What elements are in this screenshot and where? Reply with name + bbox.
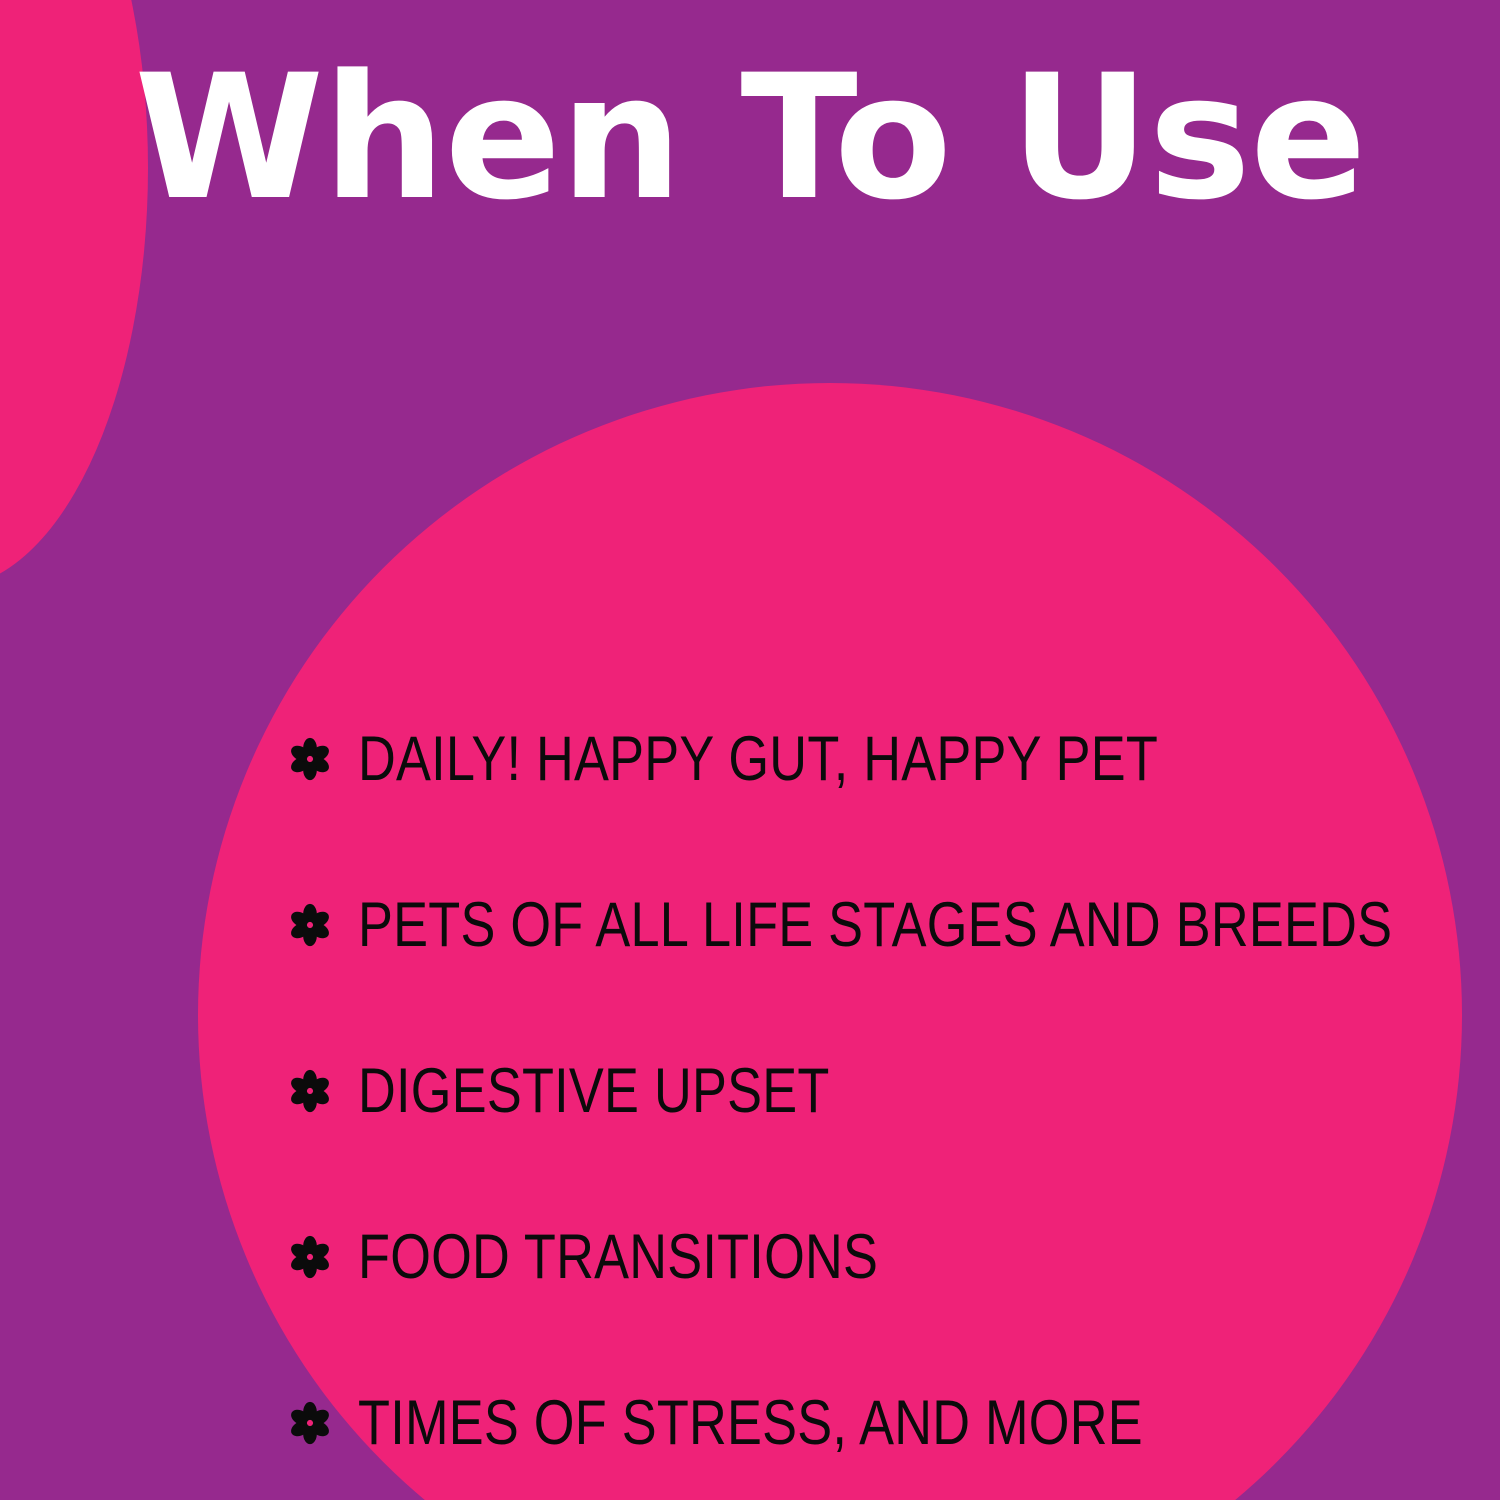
list-item-label: FOOD TRANSITIONS: [358, 1224, 878, 1290]
list-item: FOOD TRANSITIONS: [288, 1174, 1448, 1340]
list-item-label: TIMES OF STRESS, AND MORE: [358, 1390, 1143, 1456]
flower-bullet-icon: [288, 1401, 332, 1445]
flower-bullet-icon: [288, 903, 332, 947]
list-item-label: DAILY! HAPPY GUT, HAPPY PET: [358, 726, 1158, 792]
when-to-use-graphic: When To Use DAILY! HAPPY GUT, HAPPY PE: [0, 0, 1500, 1500]
flower-bullet-icon: [288, 737, 332, 781]
flower-bullet-icon: [288, 1069, 332, 1113]
list-item: DAILY! HAPPY GUT, HAPPY PET: [288, 676, 1448, 842]
list-item-label: DIGESTIVE UPSET: [358, 1058, 830, 1124]
list-item: TIMES OF STRESS, AND MORE: [288, 1340, 1448, 1500]
when-to-use-list: DAILY! HAPPY GUT, HAPPY PET PETS OF ALL: [288, 676, 1448, 1500]
list-item: PETS OF ALL LIFE STAGES AND BREEDS: [288, 842, 1448, 1008]
list-item: DIGESTIVE UPSET: [288, 1008, 1448, 1174]
page-title: When To Use: [0, 52, 1500, 224]
flower-bullet-icon: [288, 1235, 332, 1279]
list-item-label: PETS OF ALL LIFE STAGES AND BREEDS: [358, 892, 1392, 958]
